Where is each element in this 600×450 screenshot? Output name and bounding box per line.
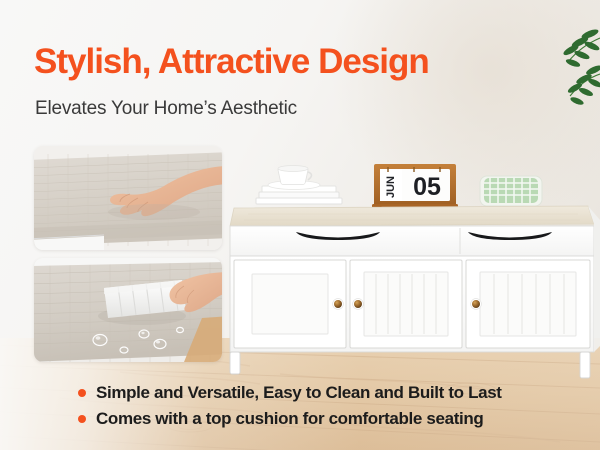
bullet-label: Comes with a top cushion for comfortable…: [96, 409, 483, 429]
bench-drawer-band: [230, 226, 594, 256]
bench-legs: [230, 352, 590, 378]
calendar-day-label: 05: [413, 173, 441, 201]
feature-bullet-list: Simple and Versatile, Easy to Clean and …: [78, 380, 578, 432]
page-title: Stylish, Attractive Design: [34, 44, 429, 80]
product-feature-banner: Stylish, Attractive Design Elevates Your…: [0, 0, 600, 450]
photo-hand-pressing-cushion: [34, 146, 222, 250]
flip-calendar: JUN 05: [372, 164, 458, 209]
list-item: Simple and Versatile, Easy to Clean and …: [78, 380, 578, 406]
calendar-month-label: JUN: [385, 176, 397, 198]
gingham-basket: [480, 176, 542, 206]
photo-wiping-cushion-with-cloth: [34, 258, 222, 362]
bullet-dot-icon: [78, 415, 86, 423]
teacup-and-saucer: [268, 166, 320, 190]
page-subtitle: Elevates Your Home’s Aesthetic: [35, 98, 297, 121]
bench-cabinet-body: [230, 256, 594, 352]
bullet-dot-icon: [78, 389, 86, 397]
list-item: Comes with a top cushion for comfortable…: [78, 406, 578, 432]
bench-cushion: [230, 206, 594, 226]
cabinet-door-right: [466, 260, 590, 348]
bullet-label: Simple and Versatile, Easy to Clean and …: [96, 383, 502, 403]
cabinet-door-left: [234, 260, 346, 348]
olive-branch-icon: [520, 0, 600, 120]
white-storage-bench: JUN 05: [228, 150, 600, 390]
cabinet-door-center: [350, 260, 462, 348]
